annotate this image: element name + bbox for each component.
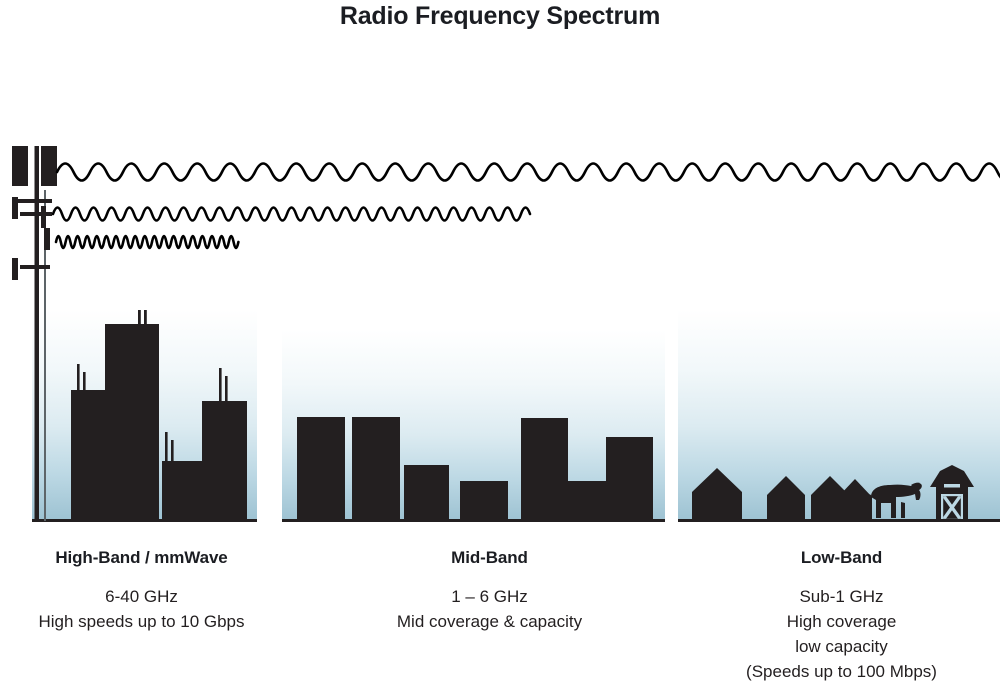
antenna-panel-small-right	[44, 228, 50, 250]
caption-low-band: Low-Band Sub-1 GHz High coverage low cap…	[700, 548, 983, 685]
band-detail-line: 6-40 GHz	[0, 585, 283, 610]
building-mid-2	[352, 417, 400, 521]
band-title-mid: Mid-Band	[348, 548, 631, 568]
tower-crossbar	[20, 265, 50, 269]
building-mid-6	[568, 481, 606, 521]
high-band-wave	[56, 236, 238, 248]
band-detail-line: Mid coverage & capacity	[348, 610, 631, 635]
low-band-wave	[57, 164, 1000, 181]
barn-loft-window	[944, 484, 960, 488]
building-mid-1	[297, 417, 345, 521]
caption-high-band: High-Band / mmWave 6-40 GHz High speeds …	[0, 548, 283, 635]
building-mid-3	[404, 465, 449, 521]
building-high-4	[202, 401, 247, 521]
infographic-canvas: Radio Frequency Spectrum	[0, 0, 1000, 700]
building-mid-4	[460, 481, 508, 521]
building-antenna	[144, 304, 147, 326]
band-detail-line: 1 – 6 GHz	[348, 585, 631, 610]
building-antenna	[138, 296, 141, 326]
antenna-panel-small-right	[41, 206, 46, 228]
band-detail-line: (Speeds up to 100 Mbps)	[700, 660, 983, 685]
band-detail-line: Sub-1 GHz	[700, 585, 983, 610]
ground-line-mid-band	[282, 519, 665, 522]
ground-line-low-band	[678, 519, 1000, 522]
antenna-panel-large-right	[41, 146, 57, 186]
building-mid-5	[521, 418, 568, 521]
building-antenna	[165, 432, 168, 462]
building-high-2	[105, 324, 159, 521]
tower-crossbar	[20, 212, 52, 216]
building-antenna	[225, 376, 228, 402]
band-detail-line: High speeds up to 10 Gbps	[0, 610, 283, 635]
building-high-1	[71, 390, 105, 521]
band-detail-line: low capacity	[700, 635, 983, 660]
building-mid-7	[606, 437, 653, 521]
band-title-low: Low-Band	[700, 548, 983, 568]
mid-band-wave	[53, 208, 530, 221]
antenna-panel-small-left	[12, 258, 18, 280]
caption-mid-band: Mid-Band 1 – 6 GHz Mid coverage & capaci…	[348, 548, 631, 635]
band-title-high: High-Band / mmWave	[0, 548, 283, 568]
ground-line-high-band	[32, 519, 257, 522]
antenna-panel-small-left	[12, 197, 18, 219]
building-antenna	[219, 368, 222, 402]
building-high-3	[162, 461, 202, 521]
tower-crossbar	[18, 199, 52, 203]
building-antenna	[171, 440, 174, 462]
antenna-panel-large-left	[12, 146, 28, 186]
band-detail-line: High coverage	[700, 610, 983, 635]
